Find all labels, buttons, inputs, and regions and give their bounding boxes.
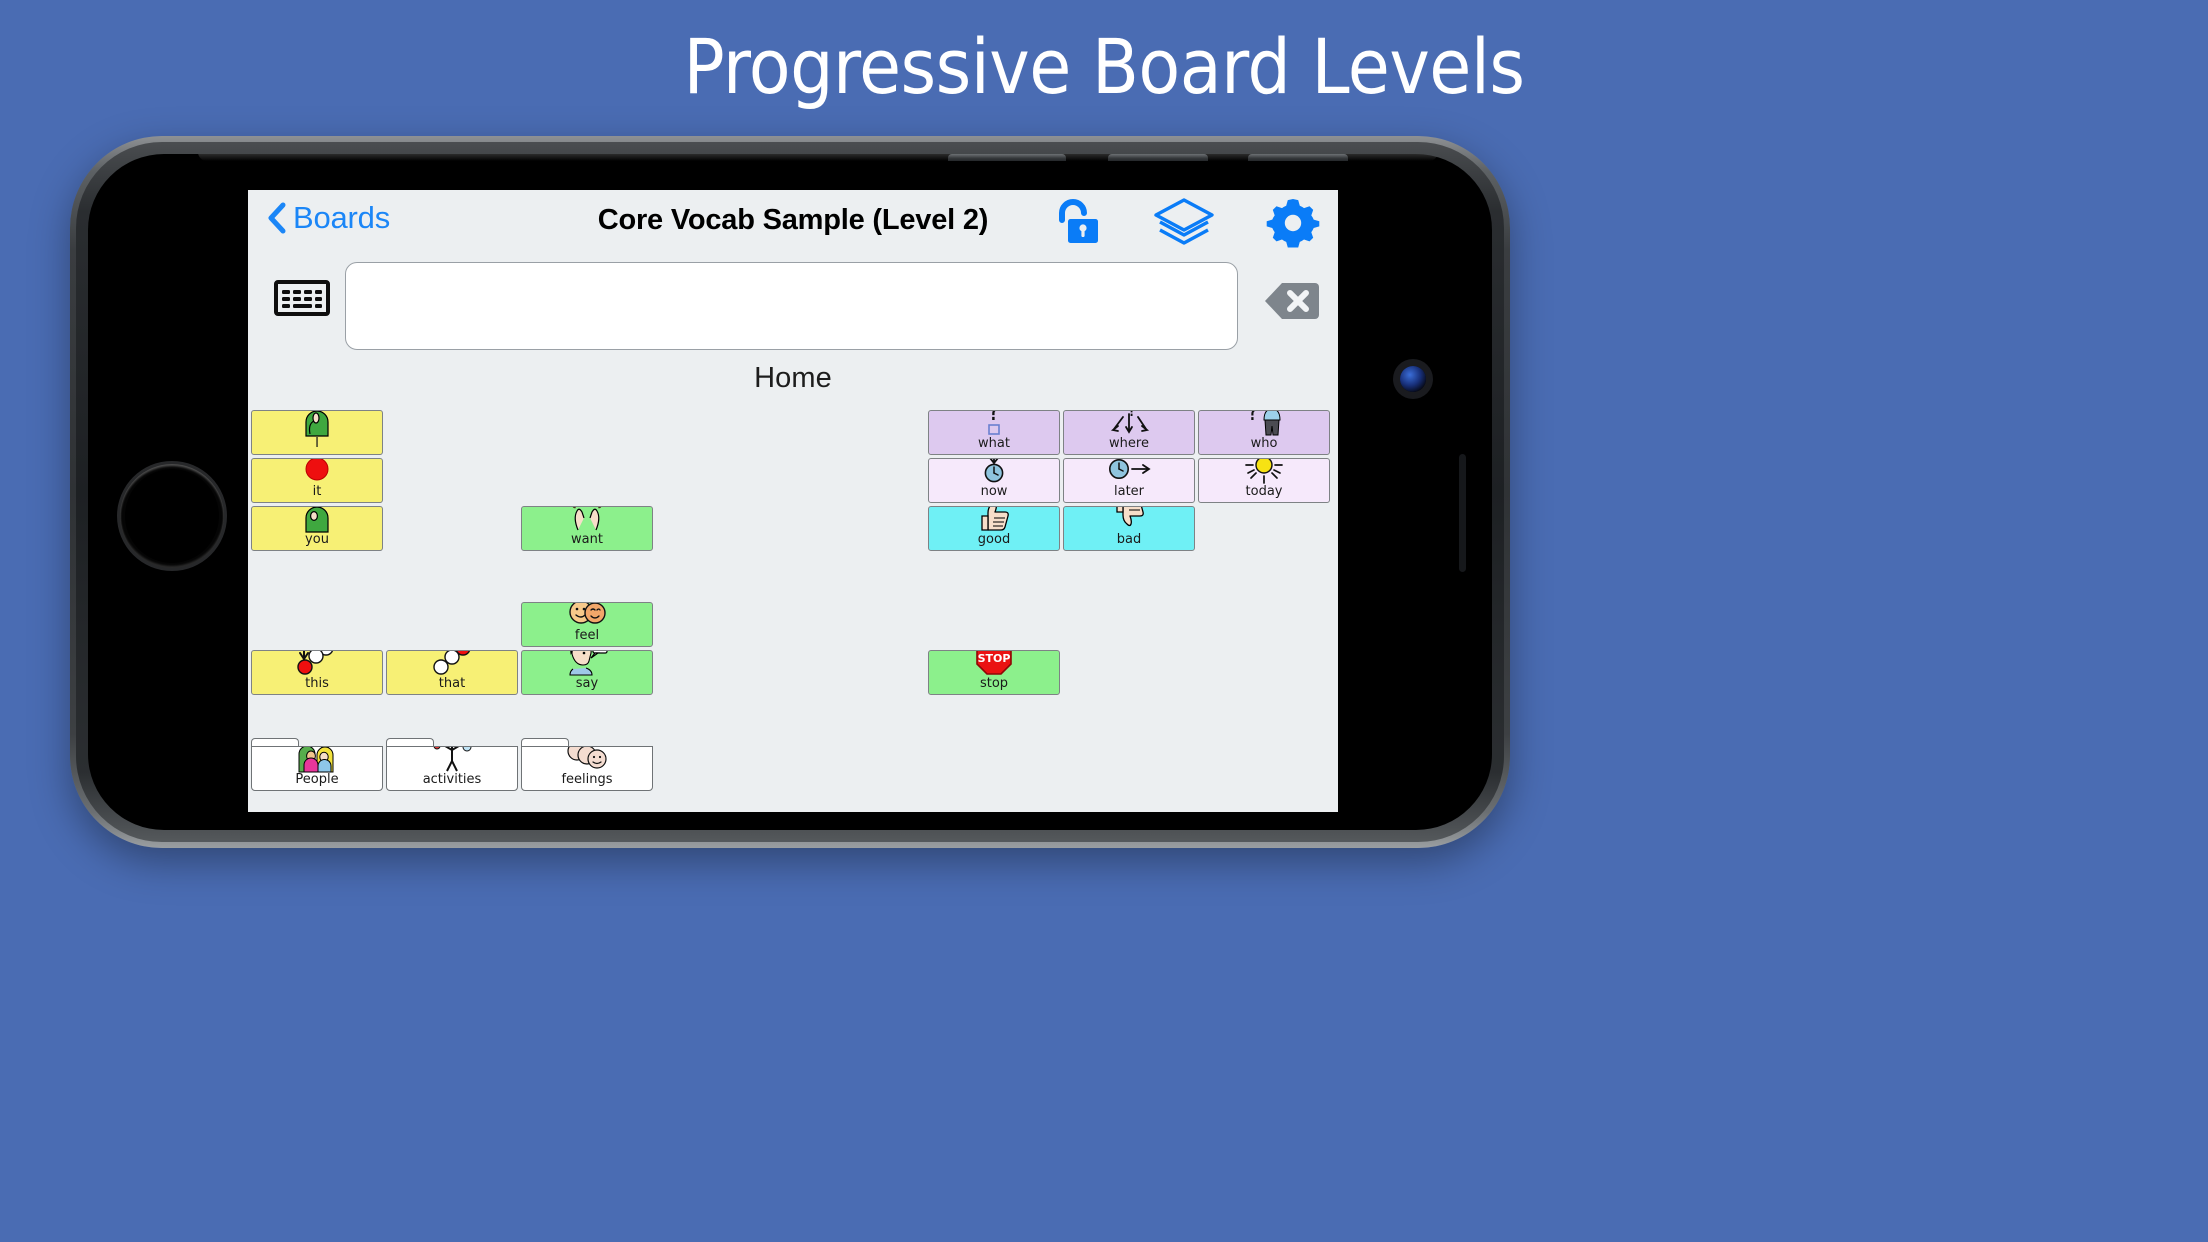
question-square-icon: ? bbox=[929, 410, 1059, 436]
board-cell-now[interactable]: now bbox=[928, 458, 1060, 503]
board-cell-label: this bbox=[305, 676, 329, 694]
board-cell-label: that bbox=[439, 676, 465, 694]
thumbs-down-icon bbox=[1064, 506, 1194, 532]
device-side-button[interactable] bbox=[948, 154, 1066, 161]
board-cell-label: who bbox=[1251, 436, 1278, 454]
phone-device: Boards Core Vocab Sample (Level 2) bbox=[70, 136, 1510, 848]
home-button[interactable] bbox=[120, 464, 224, 568]
layers-icon[interactable] bbox=[1152, 197, 1216, 254]
two-hands-reaching-icon bbox=[522, 506, 652, 532]
board-cell-good[interactable]: good bbox=[928, 506, 1060, 551]
board-cell-that[interactable]: that bbox=[386, 650, 518, 695]
board-cell-label: today bbox=[1246, 484, 1283, 502]
person-pointing-out-icon bbox=[252, 506, 382, 532]
board-cell-label: I bbox=[315, 436, 319, 454]
thumbs-up-icon bbox=[929, 506, 1059, 532]
device-side-button[interactable] bbox=[1248, 154, 1348, 161]
device-side-button[interactable] bbox=[1108, 154, 1208, 161]
svg-text:?: ? bbox=[1247, 410, 1259, 426]
navigation-bar: Boards Core Vocab Sample (Level 2) bbox=[248, 190, 1338, 256]
app-screen: Boards Core Vocab Sample (Level 2) bbox=[248, 190, 1338, 812]
gear-icon[interactable] bbox=[1266, 196, 1320, 255]
red-dot-icon bbox=[252, 458, 382, 484]
person-speech-bubble-icon bbox=[522, 650, 652, 676]
three-faces-icon bbox=[522, 746, 652, 772]
board-cell-who[interactable]: ? who bbox=[1198, 410, 1330, 455]
board-cell-i[interactable]: I bbox=[251, 410, 383, 455]
board-cell-label: want bbox=[571, 532, 603, 550]
unlock-icon[interactable] bbox=[1048, 198, 1102, 253]
board-cell-label: later bbox=[1114, 484, 1144, 502]
front-camera bbox=[1400, 366, 1426, 392]
keyboard-icon[interactable] bbox=[274, 278, 330, 323]
board-cell-label: now bbox=[981, 484, 1008, 502]
board-cell-label: feel bbox=[575, 628, 599, 646]
far-red-dot-icon bbox=[387, 650, 517, 676]
near-red-dot-icon bbox=[252, 650, 382, 676]
two-smiley-faces-icon bbox=[522, 602, 652, 628]
svg-text:STOP: STOP bbox=[978, 652, 1011, 665]
board-cell-it[interactable]: it bbox=[251, 458, 383, 503]
board-cell-label: where bbox=[1109, 436, 1149, 454]
sentence-input[interactable] bbox=[345, 262, 1238, 350]
question-person-icon: ? bbox=[1199, 410, 1329, 436]
board-cell-label: what bbox=[978, 436, 1010, 454]
folder-label: feelings bbox=[561, 772, 612, 790]
question-arrows-icon: ? bbox=[1064, 410, 1194, 436]
board-cell-bad[interactable]: bad bbox=[1063, 506, 1195, 551]
folder-label: People bbox=[295, 772, 338, 790]
board-cell-you[interactable]: you bbox=[251, 506, 383, 551]
folder-people[interactable]: People bbox=[251, 746, 383, 791]
family-group-icon bbox=[252, 746, 382, 772]
nav-icon-group bbox=[1048, 196, 1320, 255]
board-cell-label: say bbox=[576, 676, 598, 694]
phone-bezel: Boards Core Vocab Sample (Level 2) bbox=[88, 154, 1492, 830]
folder-label: activities bbox=[423, 772, 482, 790]
backspace-icon[interactable] bbox=[1264, 280, 1320, 327]
board-cell-label: you bbox=[305, 532, 329, 550]
person-pointing-self-icon bbox=[252, 410, 382, 436]
board-cell-what[interactable]: ? what bbox=[928, 410, 1060, 455]
stop-sign-icon: STOP bbox=[929, 650, 1059, 676]
board-cell-label: bad bbox=[1117, 532, 1141, 550]
board-cell-label: stop bbox=[980, 676, 1008, 694]
board-cell-later[interactable]: later bbox=[1063, 458, 1195, 503]
board-cell-this[interactable]: this bbox=[251, 650, 383, 695]
board-cell-today[interactable]: today bbox=[1198, 458, 1330, 503]
message-bar bbox=[248, 256, 1338, 352]
board-cell-say[interactable]: say bbox=[521, 650, 653, 695]
earpiece-speaker bbox=[1459, 454, 1466, 572]
phone-chassis: Boards Core Vocab Sample (Level 2) bbox=[76, 142, 1504, 842]
clock-down-arrow-icon bbox=[929, 458, 1059, 484]
board-grid: I it you want ? what ? where ? bbox=[248, 382, 1338, 812]
folder-feelings[interactable]: feelings bbox=[521, 746, 653, 791]
folder-activities[interactable]: activities bbox=[386, 746, 518, 791]
board-cell-label: it bbox=[313, 484, 322, 502]
clock-right-arrow-icon bbox=[1064, 458, 1194, 484]
board-cell-want[interactable]: want bbox=[521, 506, 653, 551]
page-title: Progressive Board Levels bbox=[0, 22, 2208, 111]
svg-text:?: ? bbox=[987, 410, 1000, 426]
board-cell-where[interactable]: ? where bbox=[1063, 410, 1195, 455]
board-cell-label: good bbox=[978, 532, 1010, 550]
person-activities-icon bbox=[387, 746, 517, 772]
sun-icon bbox=[1199, 458, 1329, 484]
board-cell-stop[interactable]: STOP stop bbox=[928, 650, 1060, 695]
board-cell-feel[interactable]: feel bbox=[521, 602, 653, 647]
